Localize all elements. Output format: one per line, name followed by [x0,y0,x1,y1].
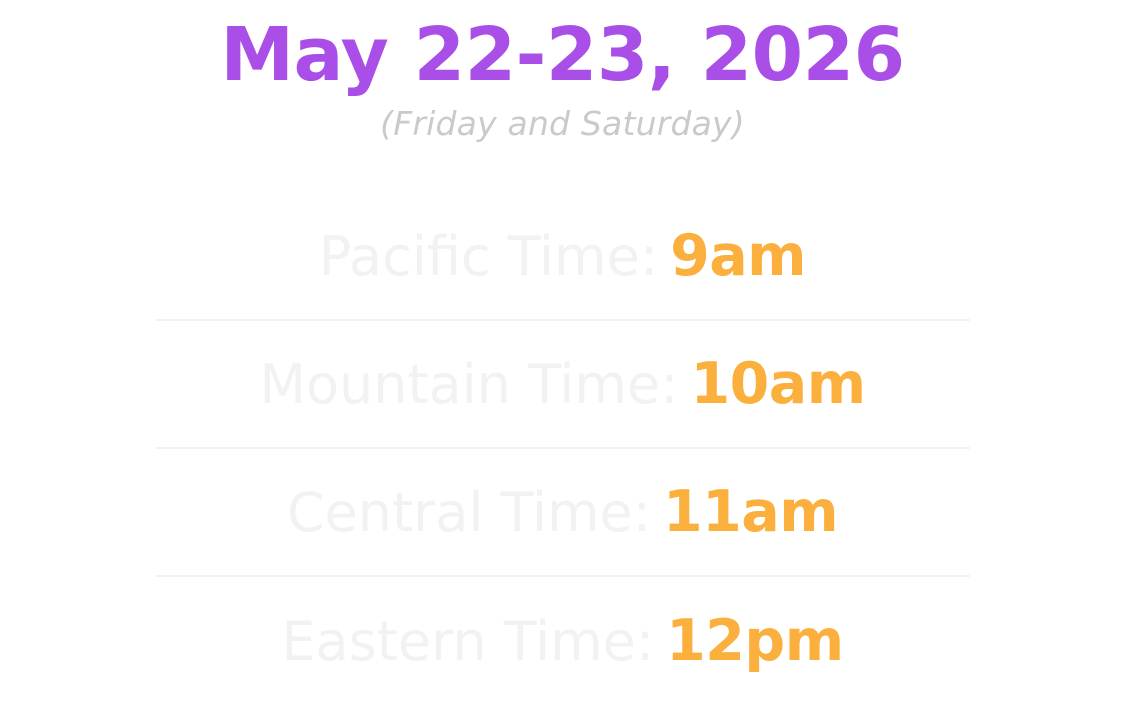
timezone-label-eastern: Eastern Time [281,610,636,673]
event-date-title: May 22-23, 2026 [0,16,1125,94]
timezone-label-central: Central Time [287,481,633,544]
timezone-table: Pacific Time:9am Mountain Time:10am Cent… [155,192,970,704]
timezone-separator-central: : [633,481,651,544]
table-row: Mountain Time:10am [155,320,970,448]
timezone-label-pacific: Pacific Time [319,225,640,288]
event-header: May 22-23, 2026 (Friday and Saturday) [0,0,1125,144]
timezone-cell-mountain: Mountain Time:10am [155,320,970,448]
event-days-subtitle: (Friday and Saturday) [0,104,1125,144]
timezone-time-mountain: 10am [690,351,865,417]
timezone-cell-eastern: Eastern Time:12pm [155,576,970,704]
timezone-schedule-card: May 22-23, 2026 (Friday and Saturday) Pa… [0,0,1125,688]
timezone-time-central: 11am [663,479,838,545]
table-row: Central Time:11am [155,448,970,576]
timezone-separator-pacific: : [640,225,658,288]
timezone-time-eastern: 12pm [666,608,844,674]
timezone-time-pacific: 9am [670,223,806,289]
timezone-table-body: Pacific Time:9am Mountain Time:10am Cent… [155,192,970,704]
timezone-cell-pacific: Pacific Time:9am [155,192,970,320]
timezone-label-mountain: Mountain Time [259,353,660,416]
table-row: Pacific Time:9am [155,192,970,320]
timezone-separator-mountain: : [660,353,678,416]
table-row: Eastern Time:12pm [155,576,970,704]
timezone-cell-central: Central Time:11am [155,448,970,576]
timezone-separator-eastern: : [636,610,654,673]
